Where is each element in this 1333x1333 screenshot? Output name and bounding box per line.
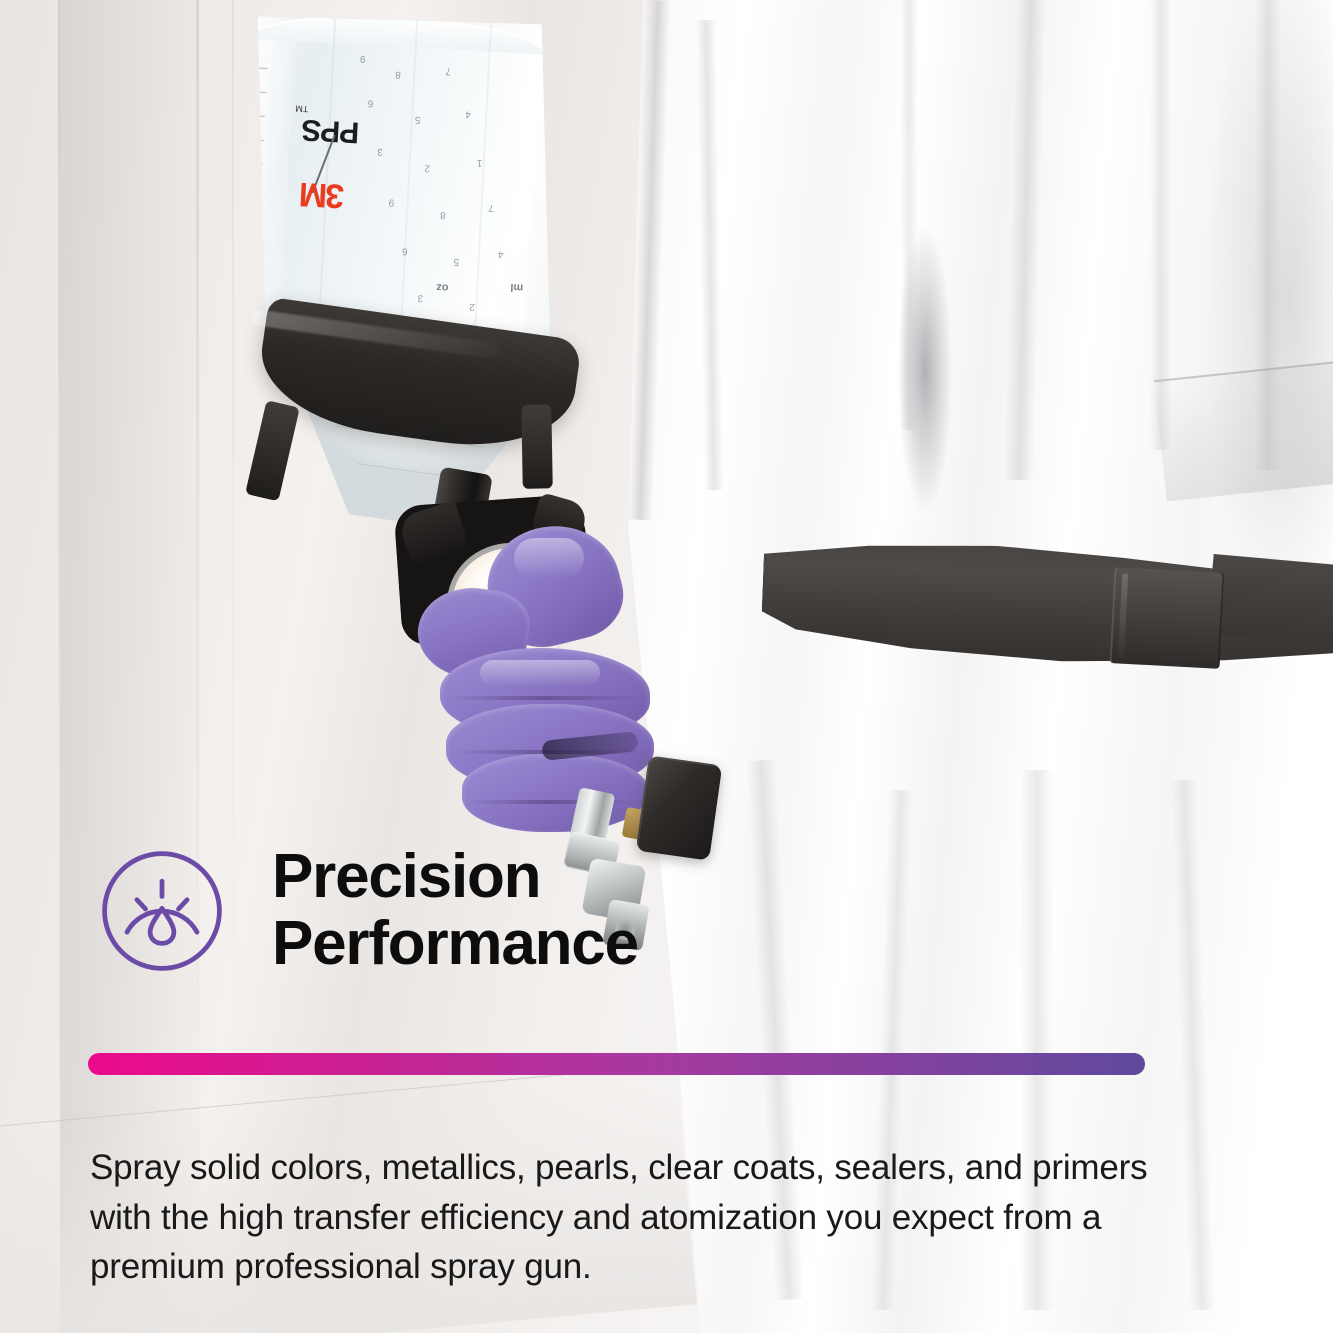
feature-description: Spray solid colors, metallics, pearls, c… [90, 1143, 1165, 1292]
glove-finger [462, 754, 648, 832]
cup-volume-mark: 4 [498, 248, 504, 259]
cup-volume-mark: 6 [402, 245, 408, 256]
gauge-droplet-icon [96, 845, 228, 977]
cup-volume-markings: 9 8 7 6 5 4 3 2 1 9 8 7 6 5 4 3 2 [342, 45, 537, 344]
coverall-fold [900, 0, 918, 430]
cup-volume-mark: 3 [377, 146, 383, 157]
page-title: Precision Performance [272, 844, 638, 978]
coverall-fold [1150, 0, 1172, 450]
cup-unit-label: ml [510, 281, 523, 294]
cup-volume-mark: 3 [417, 292, 423, 303]
coverall-fold [1255, 0, 1281, 470]
cup-volume-mark: 4 [465, 108, 471, 119]
cup-volume-mark: 2 [424, 162, 430, 173]
cup-volume-mark: 5 [415, 114, 421, 125]
collar-latch[interactable] [521, 404, 552, 489]
cup-volume-mark: 7 [445, 65, 451, 76]
coverall-pocket [1154, 360, 1333, 501]
cup-volume-mark: 8 [395, 69, 401, 80]
gradient-divider [88, 1053, 1145, 1075]
cup-volume-mark: 9 [388, 197, 394, 208]
3m-wordmark: 3M [300, 174, 345, 215]
gloved-hand [418, 528, 676, 828]
belt-buckle [1110, 567, 1225, 669]
product-photograph: 9 8 7 6 5 4 3 2 1 9 8 7 6 5 4 3 2 [0, 0, 1333, 1333]
cup-highlight [227, 15, 296, 347]
feature-heading-row: Precision Performance [0, 844, 1333, 978]
cup-volume-mark: 2 [469, 301, 475, 312]
cup-volume-mark: 7 [488, 202, 494, 213]
belt-strap-tail [1207, 554, 1333, 646]
cup-volume-mark: 6 [368, 97, 374, 108]
promo-feature-card: 9 8 7 6 5 4 3 2 1 9 8 7 6 5 4 3 2 [0, 0, 1333, 1333]
pps-paint-cup: 9 8 7 6 5 4 3 2 1 9 8 7 6 5 4 3 2 [214, 8, 618, 497]
cup-volume-mark: 5 [453, 256, 459, 267]
cup-volume-mark: 9 [360, 53, 366, 64]
feature-block: Precision Performance [0, 844, 1333, 978]
cup-volume-mark: 1 [477, 157, 483, 168]
cup-volume-mark: 8 [440, 209, 446, 220]
cup-unit-label: oz [436, 281, 449, 294]
